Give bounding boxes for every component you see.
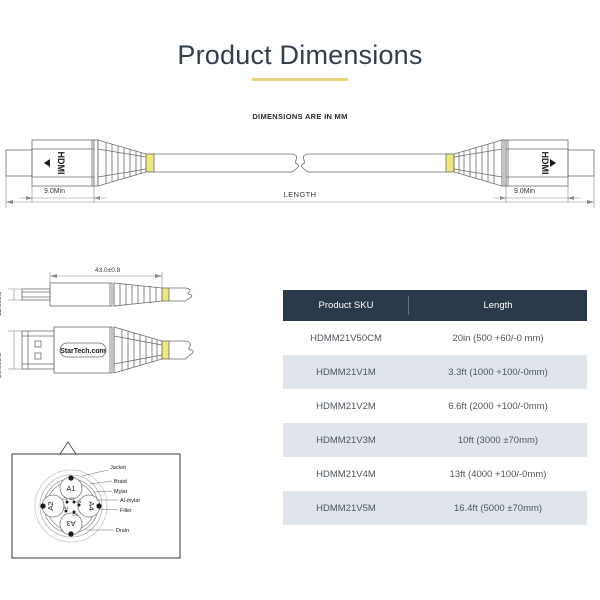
right-direction-arrow — [550, 159, 556, 167]
core-label-b1: B1 — [64, 505, 70, 510]
face-view-pin-slot-a — [35, 341, 41, 347]
cell-length: 13ft (4000 +100/-0mm) — [409, 457, 587, 491]
drain-wire-right — [96, 503, 101, 508]
connector-orthographic-views: StarTech.com 43.0±0.8 11.0±0.5 20.0±0.5 — [0, 258, 262, 393]
side-view-plug-tip — [22, 289, 50, 300]
column-header-sku: Product SKU — [283, 290, 409, 321]
left-direction-arrow — [44, 159, 50, 167]
right-plug-tip — [568, 150, 594, 176]
table-row: HDMM21V50CM 20in (500 +60/-0 mm) — [283, 321, 587, 355]
column-header-length: Length — [409, 290, 587, 321]
table-row: HDMM21V1M 3.3ft (1000 +100/-0mm) — [283, 355, 587, 389]
section-view-pointer — [60, 442, 76, 454]
page-title: Product Dimensions — [0, 38, 600, 72]
cell-sku: HDMM21V4M — [283, 457, 409, 491]
face-view-strain-relief — [114, 327, 162, 373]
side-view-yellow-band — [162, 288, 169, 301]
callout-mylar: Mylar — [114, 489, 128, 495]
ortho-top-height-dimension-label: 11.0±0.5 — [0, 291, 3, 316]
side-view-body — [50, 283, 112, 306]
cell-length: 20in (500 +60/-0 mm) — [409, 321, 587, 355]
left-yellow-band — [146, 154, 154, 172]
cable-cross-section-diagram: A1 A2 A3 A4 C1 C2 D1 B1 C3 Jacket Braid … — [8, 440, 188, 565]
cell-length: 10ft (3000 ±70mm) — [409, 423, 587, 457]
right-strain-relief — [454, 140, 502, 186]
leader-braid — [90, 481, 112, 484]
callout-braid: Braid — [114, 479, 127, 485]
core-label-c3: C3 — [72, 512, 78, 517]
dimensions-units-note: DIMENSIONS ARE IN MM — [0, 112, 600, 121]
right-yellow-band — [446, 154, 454, 172]
face-view-plug — [22, 331, 54, 369]
product-sku-table: Product SKU Length HDMM21V50CM 20in (500… — [283, 290, 587, 525]
callout-jacket: Jacket — [110, 465, 126, 471]
table-row: HDMM21V4M 13ft (4000 +100/-0mm) — [283, 457, 587, 491]
conductor-label-a1: A1 — [66, 484, 75, 493]
callout-filler: Filler — [120, 508, 132, 514]
face-view-yellow-band — [162, 341, 169, 359]
startech-brand-logo: StarTech.com — [60, 348, 106, 355]
right-hdmi-logo: HDMI — [540, 152, 550, 175]
title-accent-rule — [252, 78, 348, 81]
cable-assembly-drawing: DIMENSIONS ARE IN MM — [0, 112, 600, 217]
drain-wire-bottom — [68, 531, 73, 536]
ortho-bottom-height-dimension-label: 20.0±0.5 — [0, 353, 3, 378]
left-plug-tip — [6, 150, 32, 176]
drain-wire-left — [40, 503, 45, 508]
cell-length: 16.4ft (5000 ±70mm) — [409, 491, 587, 525]
cell-length: 3.3ft (1000 +100/-0mm) — [409, 355, 587, 389]
table-row: HDMM21V5M 16.4ft (5000 ±70mm) — [283, 491, 587, 525]
callout-al-mylar: Al-mylar — [120, 498, 140, 504]
cell-sku: HDMM21V3M — [283, 423, 409, 457]
right-connector-body — [506, 140, 568, 186]
face-view-pin-slot-b — [35, 353, 41, 359]
drain-wire-top — [68, 475, 73, 480]
cell-sku: HDMM21V1M — [283, 355, 409, 389]
cable-drawing-svg: HDMI — [0, 112, 600, 217]
cell-sku: HDMM21V50CM — [283, 321, 409, 355]
left-hdmi-logo: HDMI — [56, 152, 66, 175]
core-label-d1: D1 — [76, 499, 82, 504]
cell-length: 6.6ft (2000 +100/-0mm) — [409, 389, 587, 423]
overall-length-label: LENGTH — [0, 190, 600, 199]
ortho-views-svg: StarTech.com — [0, 258, 262, 393]
core-label-c1: C1 — [62, 496, 68, 501]
conductor-label-a2: A2 — [46, 501, 55, 510]
conductor-label-a3: A3 — [66, 519, 75, 528]
cell-sku: HDMM21V2M — [283, 389, 409, 423]
callout-drain: Drain — [116, 528, 129, 534]
left-strain-relief — [98, 140, 146, 186]
table-row: HDMM21V3M 10ft (3000 ±70mm) — [283, 423, 587, 457]
cable-break-symbol — [292, 154, 299, 172]
page-header: Product Dimensions — [0, 38, 600, 81]
table-header-row: Product SKU Length — [283, 290, 587, 321]
ortho-width-dimension-label: 43.0±0.8 — [95, 267, 120, 274]
cell-sku: HDMM21V5M — [283, 491, 409, 525]
cross-section-svg: A1 A2 A3 A4 C1 C2 D1 B1 C3 Jacket Braid … — [8, 440, 188, 565]
core-label-c2: C2 — [69, 496, 75, 501]
table-row: HDMM21V2M 6.6ft (2000 +100/-0mm) — [283, 389, 587, 423]
leader-mylar — [94, 491, 112, 492]
conductor-label-a4: A4 — [87, 501, 96, 510]
